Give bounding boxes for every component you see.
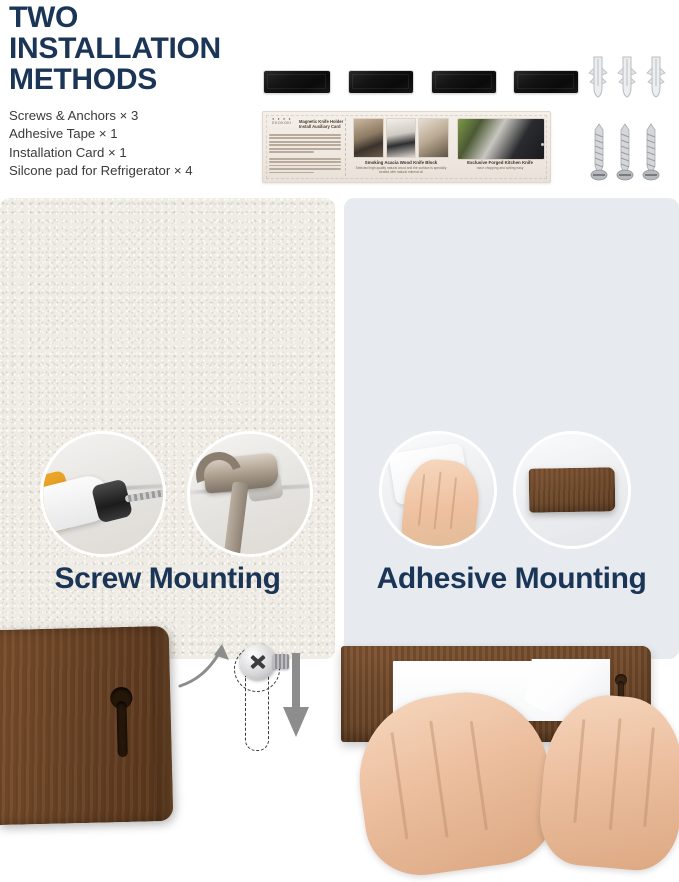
card-title: Magnetic Knife Holder Install Auxiliary … bbox=[299, 119, 345, 129]
screw-icon bbox=[642, 122, 660, 182]
drill-photo-circle bbox=[43, 434, 163, 554]
wall-anchor-icon bbox=[588, 56, 608, 108]
installation-infographic: TWO INSTALLATION METHODS Screws & Anchor… bbox=[0, 0, 679, 659]
wall-anchors-group bbox=[588, 56, 674, 108]
down-arrow-icon bbox=[283, 653, 309, 739]
card-photo-knife-set bbox=[386, 118, 417, 158]
card-photo-forged-knife bbox=[457, 118, 545, 160]
card-body-text-lines bbox=[269, 134, 341, 175]
silicone-pad bbox=[349, 71, 413, 93]
screw-icon bbox=[616, 122, 634, 182]
card-photo-subcaption-1: Selected high quality natural wood and t… bbox=[351, 166, 451, 174]
parts-list-item: Screws & Anchors × 3 bbox=[9, 107, 259, 125]
parts-list: Screws & Anchors × 3 Adhesive Tape × 1 I… bbox=[9, 107, 259, 180]
installation-card: ♦ ♦ ♦ ♦ EKOKOKI Magnetic Knife Holder In… bbox=[262, 111, 551, 183]
wall-anchor-icon bbox=[617, 56, 637, 108]
page-title: TWO INSTALLATION METHODS bbox=[9, 2, 259, 95]
card-photo-caption-1: Smoking Acacia Wood Knife Block bbox=[351, 160, 451, 165]
screws-group bbox=[590, 122, 674, 182]
adhesive-mounting-heading: Adhesive Mounting bbox=[344, 562, 679, 596]
wipe-wall-photo-circle bbox=[382, 434, 494, 546]
keyhole-screw-diagram bbox=[218, 638, 328, 758]
methods-section: Screw Mounting bbox=[0, 198, 679, 659]
screw-mounting-heading: Screw Mounting bbox=[0, 562, 335, 596]
wood-block-photo-circle bbox=[516, 434, 628, 546]
card-photo-caption-2: Exclusive Forged Kitchen Knife bbox=[455, 160, 545, 165]
silicone-pad bbox=[432, 71, 496, 93]
card-brand-name: EKOKOKI bbox=[269, 121, 295, 125]
silicone-pads-group bbox=[264, 71, 584, 95]
silicone-pad bbox=[514, 71, 578, 93]
card-brand-logo: ♦ ♦ ♦ ♦ EKOKOKI bbox=[269, 117, 295, 125]
card-photo-knife-block bbox=[353, 118, 384, 158]
parts-list-item: Adhesive Tape × 1 bbox=[9, 125, 259, 143]
card-photo-kitchen bbox=[418, 118, 449, 158]
hammer-photo-circle bbox=[190, 434, 310, 554]
card-punch-hole bbox=[541, 143, 544, 146]
title-line-1: TWO bbox=[9, 2, 259, 33]
walnut-wood-block bbox=[529, 467, 616, 512]
screw-icon bbox=[590, 122, 608, 182]
title-line-3: METHODS bbox=[9, 64, 259, 95]
parts-list-item: Silcone pad for Refrigerator × 4 bbox=[9, 162, 259, 180]
keyhole-slot-channel bbox=[116, 701, 127, 757]
card-title-line-2: Install Auxiliary Card bbox=[299, 124, 345, 129]
card-divider bbox=[345, 118, 347, 176]
keyhole-slot bbox=[107, 687, 137, 758]
dashed-keyhole-channel bbox=[245, 676, 269, 751]
silicone-pad bbox=[264, 71, 330, 93]
title-line-2: INSTALLATION bbox=[9, 33, 259, 64]
header-section: TWO INSTALLATION METHODS Screws & Anchor… bbox=[0, 0, 679, 196]
card-text-column: ♦ ♦ ♦ ♦ EKOKOKI Magnetic Knife Holder In… bbox=[269, 117, 341, 177]
wood-holder-board bbox=[0, 626, 173, 825]
card-photo-subcaption-2: razor chopping and cutting easy bbox=[455, 166, 545, 170]
parts-list-item: Installation Card × 1 bbox=[9, 144, 259, 162]
wall-anchor-icon bbox=[646, 56, 666, 108]
screw-head-icon bbox=[240, 644, 276, 680]
card-photo-strip bbox=[353, 118, 449, 158]
